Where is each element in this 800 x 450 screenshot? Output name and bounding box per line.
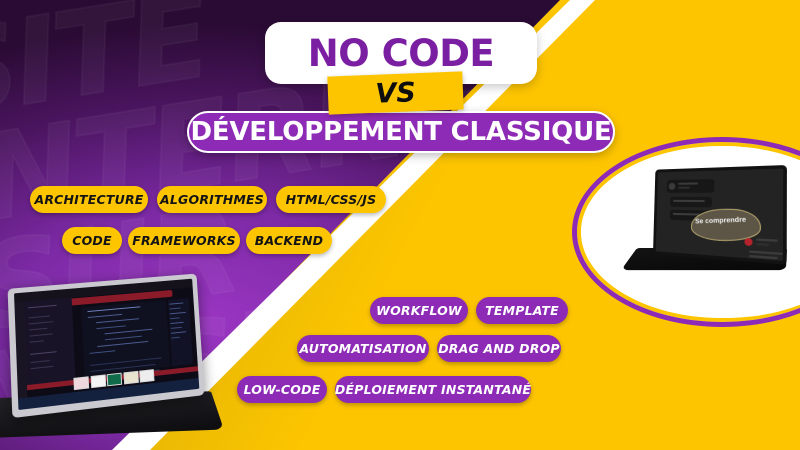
app-avatar-icon-accent (744, 238, 752, 246)
thumbnail-item (139, 369, 154, 383)
tag-label: CODE (72, 233, 112, 248)
thumbnail-item (107, 373, 123, 387)
laptop-nocode-mockup: Se comprendre (645, 168, 795, 298)
app-text-line (756, 243, 769, 245)
versus-label: VS (375, 77, 417, 110)
tag-label: HTML/CSS/JS (286, 192, 377, 207)
tag-template[interactable]: TEMPLATE (476, 297, 568, 324)
laptop-screen: Se comprendre (653, 165, 787, 265)
page-title-primary: NO CODE (308, 32, 494, 75)
tag-code[interactable]: CODE (62, 227, 122, 254)
tag-label: ARCHITECTURE (34, 192, 143, 207)
app-canvas: Se comprendre (656, 169, 783, 261)
app-text-line (678, 187, 690, 189)
ide-minimap (168, 298, 193, 366)
tag-label: LOW-CODE (244, 382, 321, 397)
versus-badge: VS (327, 71, 463, 114)
code-editor-screen (14, 279, 199, 410)
thumbnail-item (90, 374, 106, 388)
app-text-line (749, 250, 783, 254)
ide-code-area (81, 300, 170, 376)
thumbnail-item (123, 371, 138, 385)
title-card-developpement-classique: DÉVELOPPEMENT CLASSIQUE (187, 111, 615, 153)
tag-automatisation[interactable]: AUTOMATISATION (297, 335, 429, 362)
tag-frameworks[interactable]: FRAMEWORKS (128, 227, 240, 254)
tag-algorithmes[interactable]: ALGORITHMES (157, 186, 267, 213)
tag-label: AUTOMATISATION (299, 341, 426, 356)
tag-label: FRAMEWORKS (132, 233, 236, 248)
app-text-line (749, 255, 778, 259)
tag-label: DÉPLOIEMENT INSTANTANÉ (335, 382, 531, 397)
app-text-line (673, 200, 705, 202)
laptop-code-editor (2, 280, 217, 450)
tag-label: TEMPLATE (485, 303, 559, 318)
app-card-note-1 (670, 197, 712, 208)
app-blob-label: Se comprendre (695, 216, 746, 225)
tag-deploiement-instantane[interactable]: DÉPLOIEMENT INSTANTANÉ (335, 376, 531, 403)
tag-low-code[interactable]: LOW-CODE (237, 376, 327, 403)
poster-canvas: SITE INTERNET SUR MESURE NO CODE VS DÉVE… (0, 0, 800, 450)
tag-html-css-js[interactable]: HTML/CSS/JS (276, 186, 386, 213)
laptop-lid (8, 274, 205, 419)
app-text-line (678, 182, 698, 184)
page-title-secondary: DÉVELOPPEMENT CLASSIQUE (190, 117, 611, 147)
tag-label: WORKFLOW (376, 303, 462, 318)
tag-workflow[interactable]: WORKFLOW (370, 297, 468, 324)
ide-explorer-panel (24, 298, 76, 387)
tag-label: ALGORITHMES (160, 192, 264, 207)
tag-drag-and-drop[interactable]: DRAG AND DROP (437, 335, 561, 362)
tag-backend[interactable]: BACKEND (246, 227, 332, 254)
app-text-line (756, 238, 778, 241)
tag-label: BACKEND (255, 233, 323, 248)
thumbnail-item (74, 376, 90, 390)
tag-label: DRAG AND DROP (438, 341, 560, 356)
tag-architecture[interactable]: ARCHITECTURE (30, 186, 148, 213)
